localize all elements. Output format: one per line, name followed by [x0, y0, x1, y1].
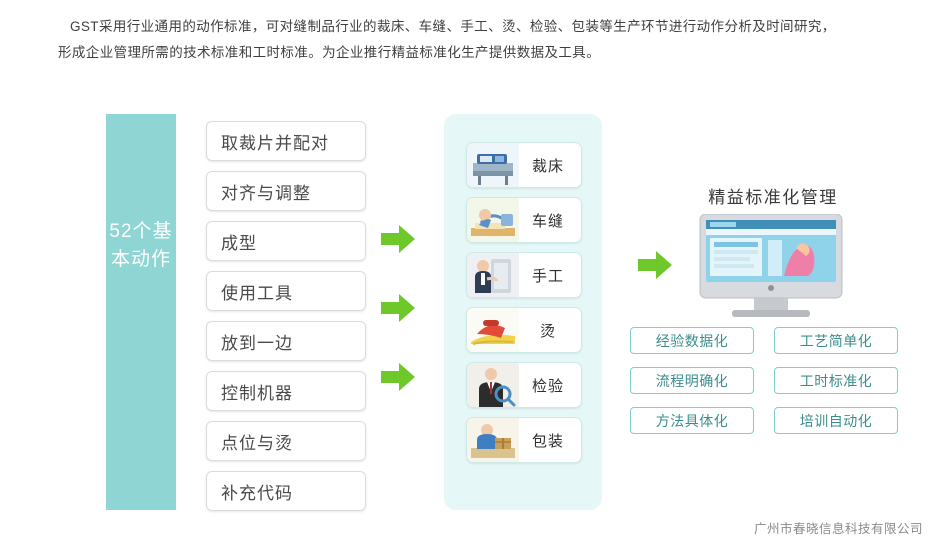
- process-label: 包装: [519, 430, 581, 451]
- action-row[interactable]: 成型: [176, 216, 366, 266]
- action-label: 补充代码: [206, 471, 366, 511]
- action-row[interactable]: 放到一边: [176, 316, 366, 366]
- process-card[interactable]: 烫: [466, 307, 582, 353]
- process-label: 检验: [519, 375, 581, 396]
- green-arrow-icon: [638, 251, 672, 279]
- green-arrow-icon: [381, 225, 415, 253]
- intro-line-1: GST采用行业通用的动作标准，可对缝制品行业的裁床、车缝、手工、烫、检验、包装等…: [70, 14, 870, 40]
- process-label: 裁床: [519, 155, 581, 176]
- intro-paragraph: GST采用行业通用的动作标准，可对缝制品行业的裁床、车缝、手工、烫、检验、包装等…: [70, 14, 870, 66]
- basic-actions-panel: [106, 114, 176, 510]
- green-arrow-icon: [381, 363, 415, 391]
- arrow-right-icon: [180, 434, 202, 448]
- process-card[interactable]: 手工: [466, 252, 582, 298]
- action-label: 对齐与调整: [206, 171, 366, 211]
- action-row[interactable]: 使用工具: [176, 266, 366, 316]
- arrow-right-icon: [180, 484, 202, 498]
- action-row[interactable]: 补充代码: [176, 466, 366, 516]
- intro-line-2: 形成企业管理所需的技术标准和工时标准。为企业推行精益标准化生产提供数据及工具。: [58, 40, 870, 66]
- action-row[interactable]: 点位与烫: [176, 416, 366, 466]
- process-list: 裁床 车缝: [466, 142, 582, 472]
- action-label: 使用工具: [206, 271, 366, 311]
- process-label: 车缝: [519, 210, 581, 231]
- process-label: 烫: [519, 320, 581, 341]
- action-label: 放到一边: [206, 321, 366, 361]
- benefit-tag[interactable]: 工艺简单化: [774, 327, 898, 354]
- basic-actions-panel-label: 52个基本动作: [106, 218, 176, 274]
- benefit-tag[interactable]: 经验数据化: [630, 327, 754, 354]
- green-arrow-icon: [381, 294, 415, 322]
- action-row[interactable]: 取裁片并配对: [176, 116, 366, 166]
- action-label: 点位与烫: [206, 421, 366, 461]
- desktop-monitor-icon: [692, 214, 850, 324]
- arrow-right-icon: [180, 334, 202, 348]
- benefit-tag[interactable]: 方法具体化: [630, 407, 754, 434]
- arrow-right-icon: [180, 284, 202, 298]
- process-card[interactable]: 包装: [466, 417, 582, 463]
- arrow-right-icon: [180, 234, 202, 248]
- sewing-machine-icon: [467, 198, 519, 242]
- benefit-tag[interactable]: 流程明确化: [630, 367, 754, 394]
- action-row[interactable]: 控制机器: [176, 366, 366, 416]
- benefit-tag-grid: 经验数据化 工艺简单化 流程明确化 工时标准化 方法具体化 培训自动化: [630, 327, 898, 434]
- process-card[interactable]: 裁床: [466, 142, 582, 188]
- action-list: 取裁片并配对 对齐与调整 成型 使用工具 放到一边 控制机器 点: [176, 116, 366, 516]
- action-label: 控制机器: [206, 371, 366, 411]
- action-label: 成型: [206, 221, 366, 261]
- arrow-right-icon: [180, 384, 202, 398]
- process-card[interactable]: 车缝: [466, 197, 582, 243]
- packing-icon: [467, 418, 519, 462]
- inspection-icon: [467, 363, 519, 407]
- process-label: 手工: [519, 265, 581, 286]
- arrow-right-icon: [180, 184, 202, 198]
- benefit-tag[interactable]: 培训自动化: [774, 407, 898, 434]
- company-footer: 广州市春晓信息科技有限公司: [754, 518, 923, 537]
- action-label: 取裁片并配对: [206, 121, 366, 161]
- process-card[interactable]: 检验: [466, 362, 582, 408]
- lean-standardization-title: 精益标准化管理: [663, 183, 883, 208]
- arrow-right-icon: [180, 134, 202, 148]
- action-row[interactable]: 对齐与调整: [176, 166, 366, 216]
- handwork-icon: [467, 253, 519, 297]
- benefit-tag[interactable]: 工时标准化: [774, 367, 898, 394]
- cutting-table-icon: [467, 143, 519, 187]
- ironing-icon: [467, 308, 519, 352]
